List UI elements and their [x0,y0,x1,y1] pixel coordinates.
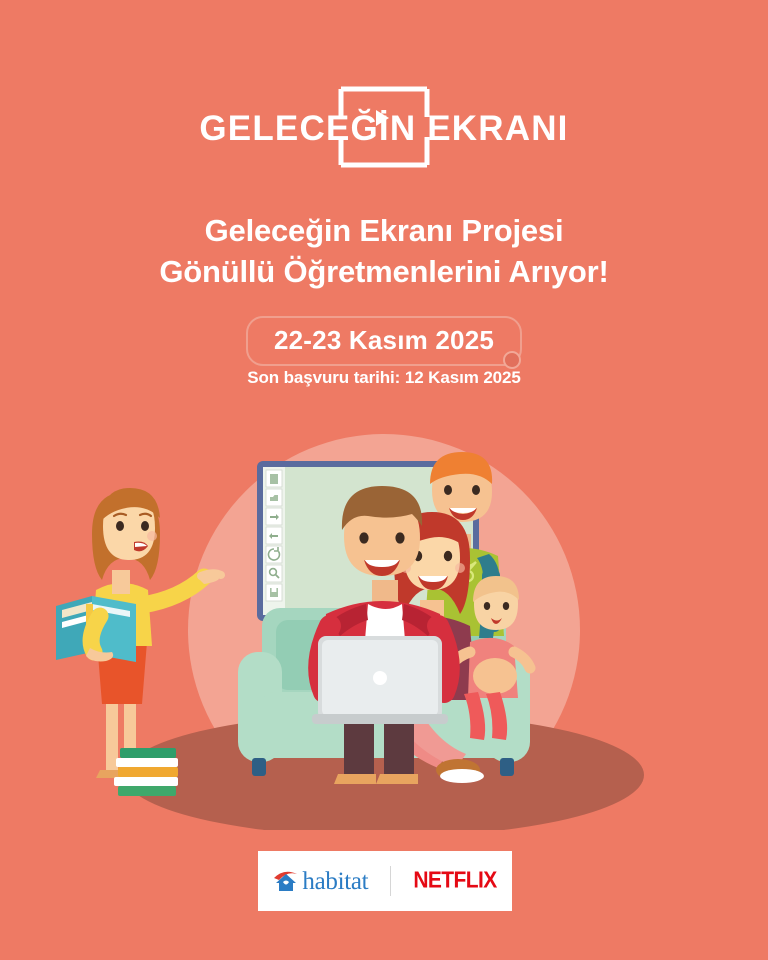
habitat-wordmark: habitat [302,869,368,894]
application-deadline: Son başvuru tarihi: 12 Kasım 2025 [0,368,768,388]
brand-logo: GELECEĞİN EKRANI [0,88,768,168]
netflix-wordmark: NETFLIX [391,868,496,895]
house-roof-icon [273,869,299,893]
page-title: Geleceğin Ekranı Projesi Gönüllü Öğretme… [0,210,768,292]
date-badge: 22-23 Kasım 2025 [246,316,522,366]
headline-line-2: Gönüllü Öğretmenlerini Arıyor! [0,251,768,292]
badge-dot-icon [503,351,521,369]
book-stack [114,748,178,796]
headline-line-1: Geleceğin Ekranı Projesi [205,213,564,248]
habitat-logo: habitat [273,869,390,894]
laptop [312,636,448,724]
date-badge-label: 22-23 Kasım 2025 [274,325,494,355]
play-triangle-icon [376,110,389,126]
date-badge-row: 22-23 Kasım 2025 [0,316,768,366]
partner-logos-panel: habitat NETFLIX [258,851,512,911]
poster-canvas: GELECEĞİN EKRANI Geleceğin Ekranı Projes… [0,0,768,960]
whiteboard-toolbar [266,470,282,601]
hero-illustration [0,430,768,830]
